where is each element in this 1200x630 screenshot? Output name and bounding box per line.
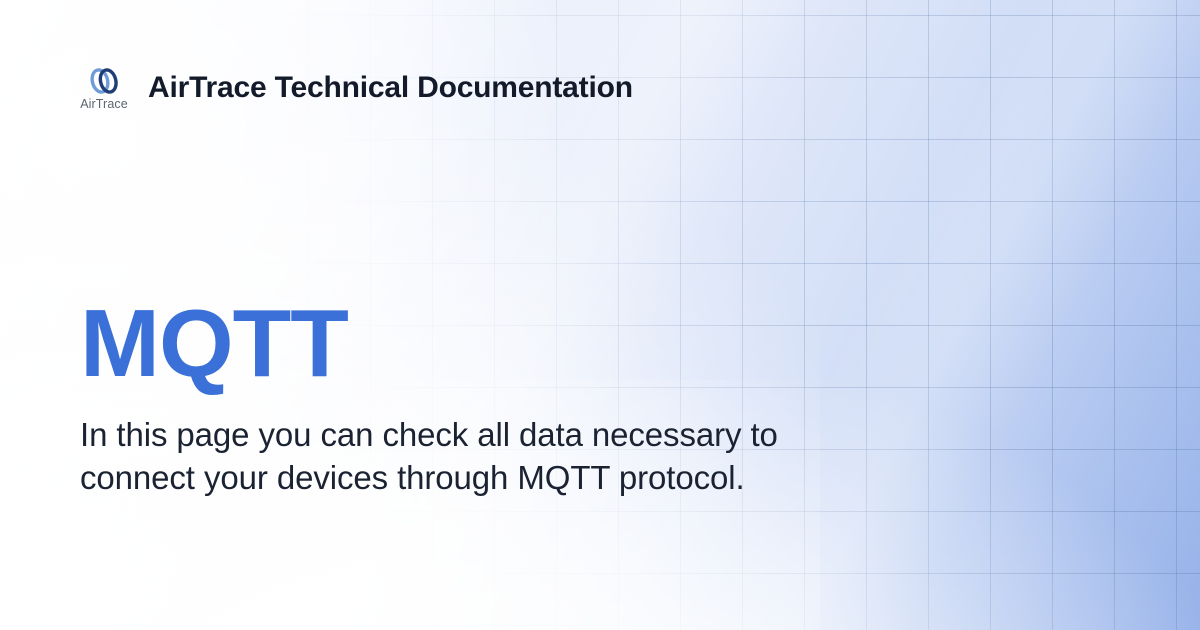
banner-header: AirTrace AirTrace Technical Documentatio…: [76, 66, 633, 111]
hero-section: MQTT In this page you can check all data…: [80, 296, 920, 499]
page-title: AirTrace Technical Documentation: [148, 73, 633, 103]
banner-content: AirTrace AirTrace Technical Documentatio…: [0, 0, 1200, 630]
hero-heading: MQTT: [80, 296, 920, 392]
airtrace-interlocking-rings-logo: [85, 66, 123, 96]
airtrace-logo-wordmark: AirTrace: [80, 98, 128, 111]
hero-description: In this page you can check all data nece…: [80, 414, 870, 499]
airtrace-logo: AirTrace: [76, 66, 132, 111]
documentation-banner: AirTrace AirTrace Technical Documentatio…: [0, 0, 1200, 630]
